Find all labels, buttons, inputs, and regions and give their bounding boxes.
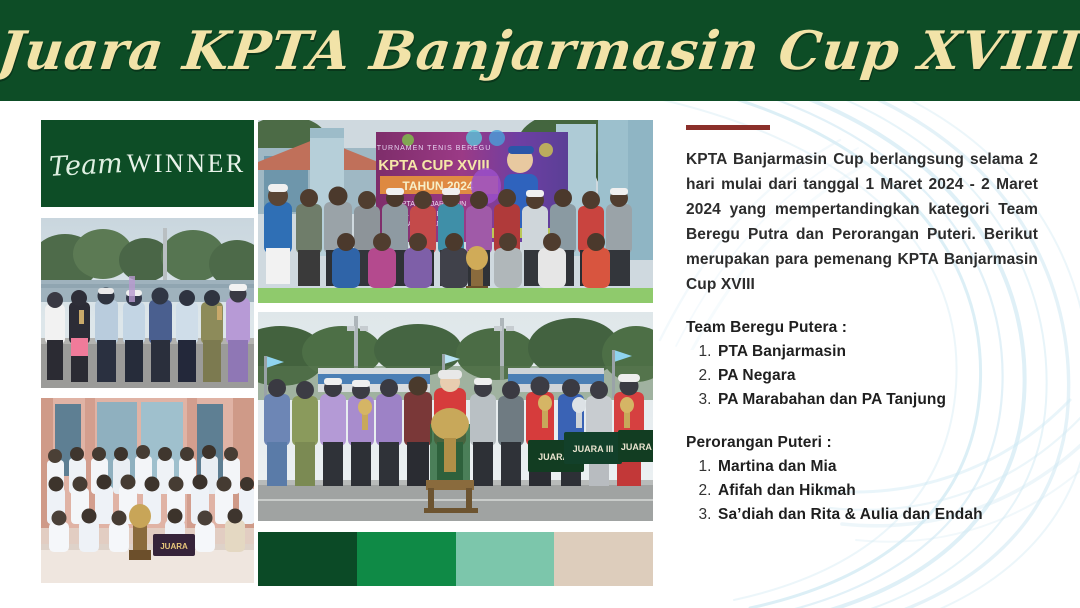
swatch-green	[357, 532, 456, 586]
section-title-team: Team Beregu Putera :	[686, 319, 1038, 337]
list-item: Afifah dan Hikmah	[716, 479, 1038, 503]
left-column: Team WINNER	[41, 120, 254, 583]
team-winner-caps-word: WINNER	[127, 151, 246, 177]
swatch-dark-green	[258, 532, 357, 586]
svg-text:KPTA CUP XVIII: KPTA CUP XVIII	[378, 157, 489, 174]
text-column: KPTA Banjarmasin Cup berlangsung selama …	[686, 125, 1038, 549]
poster-canvas: Juara KPTA Banjarmasin Cup XVIII Team WI…	[0, 0, 1080, 608]
svg-text:TURNAMEN TENIS BEREGU: TURNAMEN TENIS BEREGU	[377, 145, 492, 152]
svg-text:JUARA III: JUARA III	[573, 444, 614, 454]
description-paragraph: KPTA Banjarmasin Cup berlangsung selama …	[686, 147, 1038, 297]
list-item: PTA Banjarmasin	[716, 340, 1038, 364]
photo-women-team-walking	[41, 218, 254, 388]
list-item: PA Marabahan dan PA Tanjung	[716, 388, 1038, 412]
header-band: Juara KPTA Banjarmasin Cup XVIII	[0, 0, 1080, 101]
svg-text:TAHUN 2024: TAHUN 2024	[402, 179, 473, 193]
svg-text:JUARA II: JUARA II	[621, 442, 653, 452]
team-winner-card: Team WINNER	[41, 120, 254, 207]
page-title: Juara KPTA Banjarmasin Cup XVIII	[0, 0, 1080, 101]
swatch-mint	[456, 532, 555, 586]
individual-winners-list: Martina dan Mia Afifah dan Hikmah Sa’dia…	[686, 455, 1038, 527]
svg-text:JUARA: JUARA	[160, 542, 188, 551]
middle-column: TURNAMEN TENIS BEREGU KPTA CUP XVIII TAH…	[258, 120, 653, 586]
color-swatch-row	[258, 532, 653, 586]
photo-award-ceremony: JUARA I JUARA III JUARA II	[258, 312, 653, 521]
photo-team-building-trophy: JUARA	[41, 398, 254, 583]
list-item: Sa’diah dan Rita & Aulia dan Endah	[716, 503, 1038, 527]
section-title-individual: Perorangan Puteri :	[686, 434, 1038, 452]
list-item: PA Negara	[716, 364, 1038, 388]
swatch-beige	[554, 532, 653, 586]
team-winners-list: PTA Banjarmasin PA Negara PA Marabahan d…	[686, 340, 1038, 412]
team-winner-script-word: Team	[49, 150, 124, 181]
accent-rule	[686, 125, 770, 130]
list-item: Martina dan Mia	[716, 455, 1038, 479]
photo-group-banner: TURNAMEN TENIS BEREGU KPTA CUP XVIII TAH…	[258, 120, 653, 303]
